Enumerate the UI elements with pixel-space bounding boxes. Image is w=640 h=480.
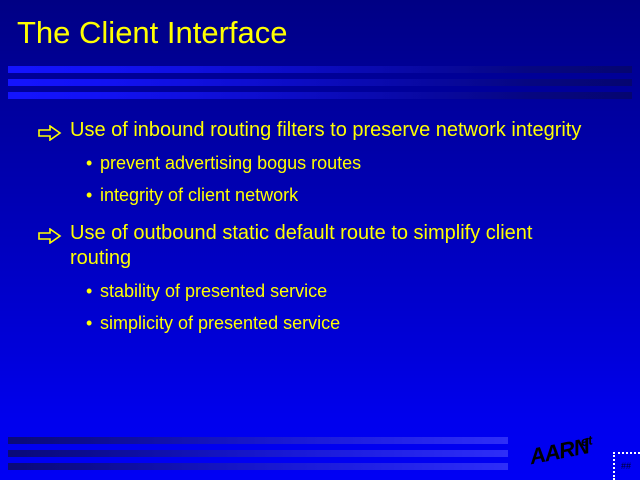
decorative-bar (8, 463, 508, 470)
right-arrow-icon (38, 123, 62, 139)
decorative-bar (8, 79, 632, 86)
page-number-box: ## (613, 452, 640, 480)
bullet-text: simplicity of presented service (100, 313, 340, 333)
dot-bullet-icon: • (86, 152, 92, 175)
bullet-item-level2: • integrity of client network (0, 184, 640, 207)
dot-bullet-icon: • (86, 280, 92, 303)
dot-bullet-icon: • (86, 184, 92, 207)
slide-canvas: The Client Interface Use of inbound rout… (0, 0, 640, 480)
dot-bullet-icon: • (86, 312, 92, 335)
page-number: ## (621, 461, 631, 471)
bullet-text: stability of presented service (100, 281, 327, 301)
decorative-bar (8, 450, 508, 457)
right-arrow-icon (38, 226, 62, 242)
decorative-bar (8, 92, 632, 99)
bullet-text: prevent advertising bogus routes (100, 153, 361, 173)
bullet-item-level1: Use of outbound static default route to … (0, 221, 640, 271)
bullet-text: Use of inbound routing filters to preser… (70, 119, 581, 141)
bullet-text: Use of outbound static default route to … (70, 222, 532, 269)
svg-text:et: et (579, 432, 594, 449)
bullet-item-level2: • stability of presented service (0, 280, 640, 303)
bullet-text: integrity of client network (100, 185, 298, 205)
bullet-list: Use of inbound routing filters to preser… (0, 118, 640, 344)
bullet-item-level2: • prevent advertising bogus routes (0, 152, 640, 175)
bullet-item-level2: • simplicity of presented service (0, 312, 640, 335)
page-title: The Client Interface (17, 15, 617, 51)
bottom-decorative-bars (8, 437, 508, 476)
aarnet-logo: AARN et (527, 432, 609, 466)
decorative-bar (8, 437, 508, 444)
decorative-bar (8, 66, 632, 73)
bullet-item-level1: Use of inbound routing filters to preser… (0, 118, 640, 143)
top-decorative-bars (8, 66, 632, 105)
